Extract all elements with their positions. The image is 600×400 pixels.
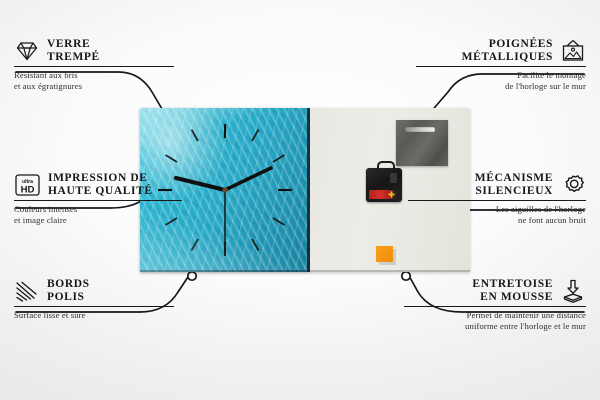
feature-impression-haute-qualite: ultra HD IMPRESSION DE HAUTE QUALITÉ Cou… (14, 172, 200, 225)
infographic-canvas: VERRE TREMPÉ Résistant aux bris et aux é… (0, 0, 600, 400)
foam-spacer-icon (560, 279, 586, 303)
feature-title-line1: VERRE (47, 38, 100, 51)
feature-rule (408, 200, 586, 201)
gear-icon (560, 173, 586, 197)
feature-title-line2: MÉTALLIQUES (462, 51, 553, 64)
foam-spacer (376, 246, 393, 262)
feature-desc-line1: Couleurs intenses (14, 204, 200, 214)
feature-entretoise-en-mousse: ENTRETOISE EN MOUSSE Permet de maintenir… (400, 278, 586, 331)
feature-rule (14, 200, 182, 201)
battery-plus-icon (388, 191, 395, 198)
hanger-loop-icon (377, 161, 395, 172)
feature-rule (14, 306, 174, 307)
feature-desc-line2: de l'horloge sur le mur (408, 81, 586, 91)
feature-desc-line1: Résistant aux bris (14, 70, 192, 80)
back-panel-bottom-edge (310, 270, 470, 272)
battery (369, 190, 399, 199)
clock-mechanism (366, 168, 402, 202)
feature-bords-polis: BORDS POLIS Surface lisse et sûre (14, 278, 192, 321)
feature-poignees-metalliques: POIGNÉES MÉTALLIQUES Facilite le montage… (408, 38, 586, 91)
feature-title-line1: BORDS (47, 278, 90, 291)
metal-hanger-plate (396, 120, 448, 166)
feature-title-line2: TREMPÉ (47, 51, 100, 64)
feature-title-line1: IMPRESSION DE (48, 172, 153, 185)
polished-edge-icon (14, 279, 40, 303)
feature-desc-line1: Permet de maintenir une distance (400, 310, 586, 320)
feature-mecanisme-silencieux: MÉCANISME SILENCIEUX Les aiguilles de l'… (400, 172, 586, 225)
feature-desc-line1: Surface lisse et sûre (14, 310, 192, 320)
feature-desc-line1: Les aiguilles de l'horloge (400, 204, 586, 214)
feature-desc-line2: ne font aucun bruit (400, 215, 586, 225)
clock-bottom-edge (140, 270, 310, 272)
mechanism-knob (390, 173, 397, 183)
feature-title-line2: SILENCIEUX (475, 185, 553, 198)
hanger-slot (405, 127, 435, 132)
feature-desc-line2: uniforme entre l'horloge et le mur (400, 321, 586, 331)
feature-desc-line2: et aux égratignures (14, 81, 192, 91)
ultra-hd-icon: ultra HD (14, 173, 41, 197)
minute-hand (225, 168, 271, 190)
svg-text:HD: HD (21, 184, 35, 195)
picture-hanger-icon (560, 39, 586, 63)
feature-desc-line2: et image claire (14, 215, 200, 225)
feature-rule (416, 66, 586, 67)
feature-verre-trempe: VERRE TREMPÉ Résistant aux bris et aux é… (14, 38, 192, 91)
feature-title-line2: HAUTE QUALITÉ (48, 185, 153, 198)
feature-rule (404, 306, 586, 307)
feature-title-line1: MÉCANISME (475, 172, 553, 185)
feature-title-line2: EN MOUSSE (472, 291, 553, 304)
diamond-icon (14, 39, 40, 63)
feature-rule (14, 66, 174, 67)
feature-title-line1: ENTRETOISE (472, 278, 553, 291)
feature-title-line2: POLIS (47, 291, 90, 304)
hand-pivot (222, 187, 227, 192)
feature-title-line1: POIGNÉES (462, 38, 553, 51)
feature-desc-line1: Facilite le montage (408, 70, 586, 80)
